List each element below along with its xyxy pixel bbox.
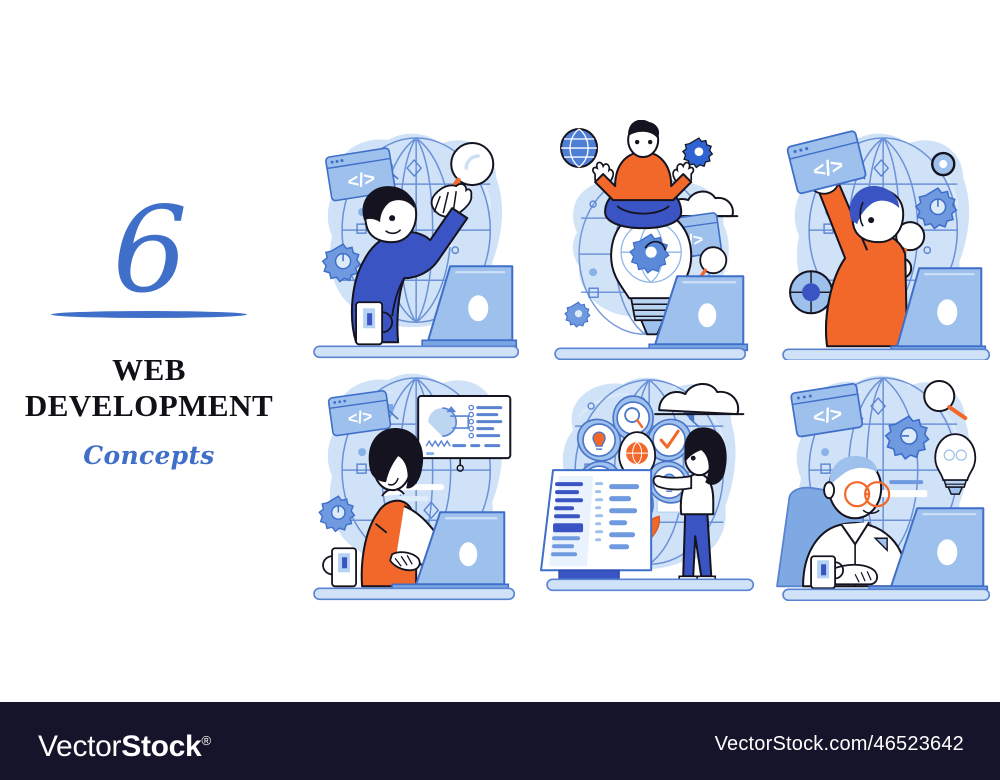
target-icon: [790, 271, 832, 313]
numeral-six: 6: [0, 196, 298, 305]
code-window[interactable]: </>: [790, 384, 862, 438]
magnifier-icon[interactable]: [617, 402, 649, 434]
desk-base: [555, 348, 745, 359]
panel-meditating-developer-lightbulb: </>: [533, 120, 766, 360]
lightbulb-icon-left[interactable]: [583, 424, 615, 456]
registered-mark-icon: ®: [201, 733, 210, 748]
logo-text-bold: Stock: [121, 730, 201, 763]
title-block: 6 WEB DEVELOPMENT Concepts: [0, 196, 298, 470]
desk-base: [783, 590, 989, 601]
ring-icon: [932, 153, 954, 175]
panel-woman-coding-dashboard: </>: [300, 360, 533, 600]
check-icon[interactable]: [653, 424, 685, 456]
logo-text-light: Vector: [38, 730, 121, 763]
character-meditating: [593, 120, 693, 228]
vectorstock-logo: VectorStock®: [38, 724, 211, 764]
svg-text:</>: </>: [347, 407, 374, 429]
panel-developer-with-glasses-at-desk: </>: [767, 360, 1000, 600]
illustration-grid: </>: [300, 120, 1000, 600]
watermark-footer: VectorStock® VectorStock.com/46523642: [0, 702, 1000, 780]
page-title: WEB DEVELOPMENT: [0, 352, 298, 425]
svg-text:</>: </>: [346, 168, 376, 193]
desk-base: [314, 589, 514, 600]
page-subtitle: Concepts: [0, 441, 298, 470]
gear-icon-small: [565, 302, 590, 327]
desk-base: [547, 580, 753, 591]
monitor-code-editor[interactable]: [541, 470, 651, 579]
panel-woman-selecting-feature-icons: </>: [533, 360, 766, 600]
code-window[interactable]: </>: [328, 391, 391, 437]
svg-text:</>: </>: [811, 403, 843, 429]
watermark-url: VectorStock.com/46523642: [715, 732, 964, 756]
panel-developer-reaching-magnifier: </>: [300, 120, 533, 360]
panel-developer-holding-code-window: </>: [767, 120, 1000, 360]
desk-base: [314, 346, 518, 357]
coffee-mug: [323, 549, 356, 587]
desk-base: [783, 349, 989, 360]
artwork-canvas: 6 WEB DEVELOPMENT Concepts: [0, 0, 1000, 702]
globe-icon: [561, 129, 597, 167]
